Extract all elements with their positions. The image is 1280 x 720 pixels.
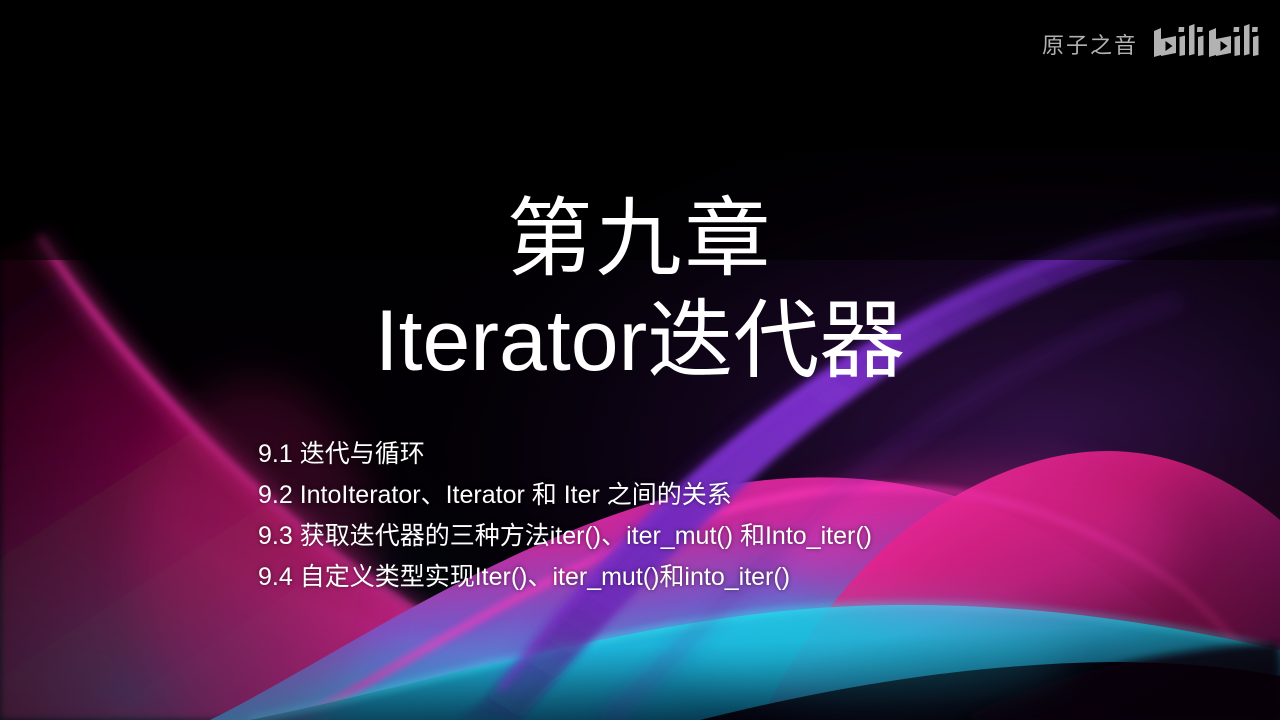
agenda-item-2: 9.2 IntoIterator、Iterator 和 Iter 之间的关系	[258, 475, 872, 516]
slide-root: 原子之音	[0, 0, 1280, 720]
agenda-item-1: 9.1 迭代与循环	[258, 434, 872, 475]
bilibili-logo	[1150, 24, 1262, 64]
agenda-item-4: 9.4 自定义类型实现Iter()、iter_mut()和into_iter()	[258, 557, 872, 598]
channel-name: 原子之音	[1042, 28, 1138, 60]
agenda-item-3: 9.3 获取迭代器的三种方法iter()、iter_mut() 和Into_it…	[258, 516, 872, 557]
bg-vignette	[0, 0, 1280, 720]
agenda-list: 9.1 迭代与循环 9.2 IntoIterator、Iterator 和 It…	[258, 434, 872, 598]
watermark: 原子之音	[1042, 24, 1262, 64]
background-artwork	[0, 0, 1280, 720]
